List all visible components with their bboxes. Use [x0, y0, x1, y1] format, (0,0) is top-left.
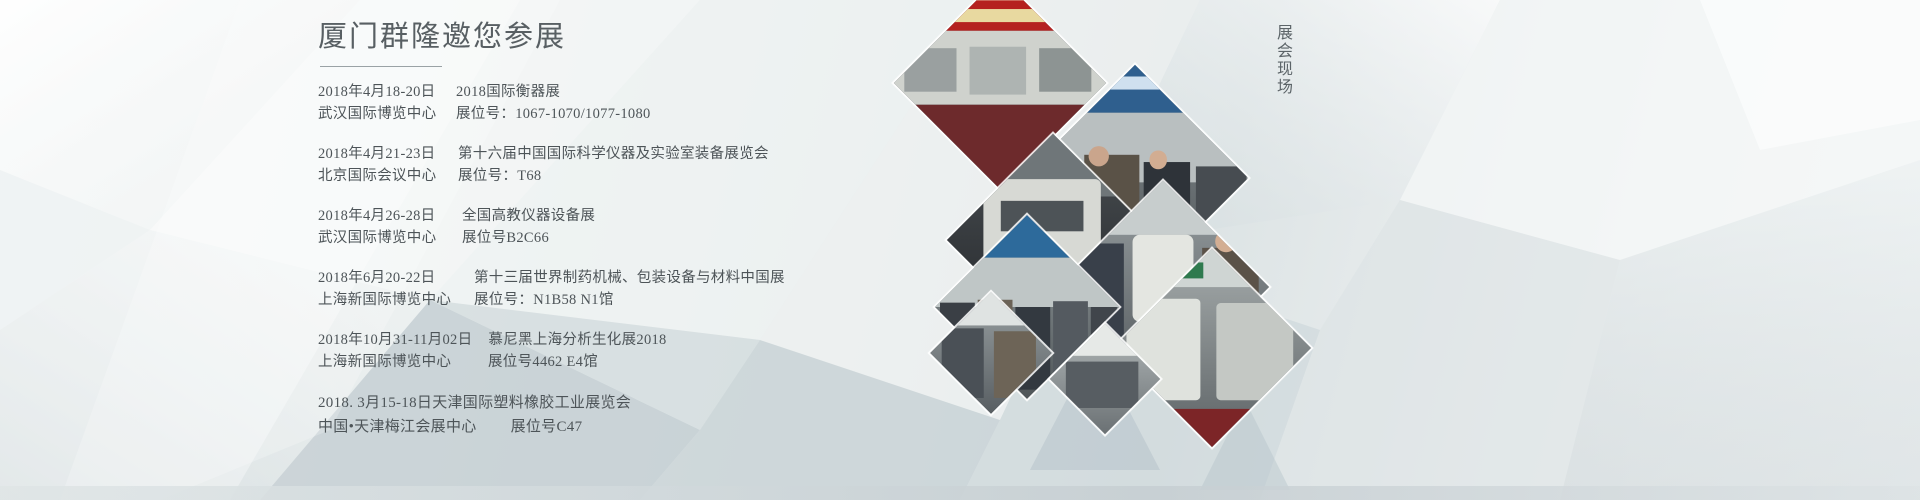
event-row-secondary: 武汉国际博览中心 展位号B2C66 — [318, 227, 938, 249]
event-booth: 展位号：N1B58 N1馆 — [474, 289, 614, 311]
event-booth: 展位号：1067-1070/1077-1080 — [456, 103, 651, 125]
event-date: 2018年4月21-23日 — [318, 143, 442, 165]
event-row-primary: 2018年4月18-20日 2018国际衡器展 — [318, 81, 938, 103]
photo-collage — [1020, 0, 1440, 500]
event-name: 慕尼黑上海分析生化展2018 — [488, 329, 666, 351]
event-venue: 上海新国际博览中心 — [318, 289, 458, 311]
event-row-secondary: 上海新国际博览中心 展位号：N1B58 N1馆 — [318, 289, 938, 311]
event-item: 2018年10月31-11月02日 慕尼黑上海分析生化展2018 上海新国际博览… — [318, 329, 938, 373]
event-date: 2018年10月31-11月02日 — [318, 329, 472, 351]
event-booth: 展位号C47 — [511, 415, 583, 439]
event-item: 2018年4月26-28日 全国高教仪器设备展 武汉国际博览中心 展位号B2C6… — [318, 205, 938, 249]
event-booth: 展位号4462 E4馆 — [488, 351, 598, 373]
event-booth: 展位号：T68 — [458, 165, 541, 187]
event-date: 2018年4月18-20日 — [318, 81, 440, 103]
event-venue: 北京国际会议中心 — [318, 165, 442, 187]
event-venue: 武汉国际博览中心 — [318, 227, 446, 249]
event-row-primary: 2018年4月21-23日 第十六届中国国际科学仪器及实验室装备展览会 — [318, 143, 938, 165]
event-venue: 武汉国际博览中心 — [318, 103, 440, 125]
event-item: 2018年6月20-22日 第十三届世界制药机械、包装设备与材料中国展 上海新国… — [318, 267, 938, 311]
event-venue: 上海新国际博览中心 — [318, 351, 472, 373]
event-row-primary: 2018年4月26-28日 全国高教仪器设备展 — [318, 205, 938, 227]
event-row-secondary: 中国•天津梅江会展中心 展位号C47 — [318, 415, 938, 439]
event-row-primary: 2018. 3月15-18日天津国际塑料橡胶工业展览会 — [318, 391, 938, 415]
event-row-primary: 2018年6月20-22日 第十三届世界制药机械、包装设备与材料中国展 — [318, 267, 938, 289]
event-date: 2018年6月20-22日 — [318, 267, 458, 289]
event-item: 2018. 3月15-18日天津国际塑料橡胶工业展览会 中国•天津梅江会展中心 … — [318, 391, 938, 439]
event-list-panel: 厦门群隆邀您参展 2018年4月18-20日 2018国际衡器展 武汉国际博览中… — [318, 18, 938, 457]
event-date: 2018. 3月15-18日天津国际塑料橡胶工业展览会 — [318, 391, 631, 415]
event-booth: 展位号B2C66 — [462, 227, 549, 249]
title-underline — [320, 66, 442, 67]
exhibition-banner: 厦门群隆邀您参展 2018年4月18-20日 2018国际衡器展 武汉国际博览中… — [0, 0, 1920, 500]
event-name: 第十六届中国国际科学仪器及实验室装备展览会 — [458, 143, 769, 165]
event-name: 第十三届世界制药机械、包装设备与材料中国展 — [474, 267, 785, 289]
event-row-primary: 2018年10月31-11月02日 慕尼黑上海分析生化展2018 — [318, 329, 938, 351]
vertical-section-label: 展会现场 — [1270, 24, 1295, 96]
page-title: 厦门群隆邀您参展 — [318, 18, 938, 63]
event-row-secondary: 北京国际会议中心 展位号：T68 — [318, 165, 938, 187]
event-name: 全国高教仪器设备展 — [462, 205, 595, 227]
event-row-secondary: 上海新国际博览中心 展位号4462 E4馆 — [318, 351, 938, 373]
bottom-strip — [0, 486, 1920, 500]
event-item: 2018年4月21-23日 第十六届中国国际科学仪器及实验室装备展览会 北京国际… — [318, 143, 938, 187]
event-venue: 中国•天津梅江会展中心 — [318, 415, 477, 439]
event-name: 2018国际衡器展 — [456, 81, 560, 103]
event-item: 2018年4月18-20日 2018国际衡器展 武汉国际博览中心 展位号：106… — [318, 81, 938, 125]
event-row-secondary: 武汉国际博览中心 展位号：1067-1070/1077-1080 — [318, 103, 938, 125]
event-date: 2018年4月26-28日 — [318, 205, 446, 227]
